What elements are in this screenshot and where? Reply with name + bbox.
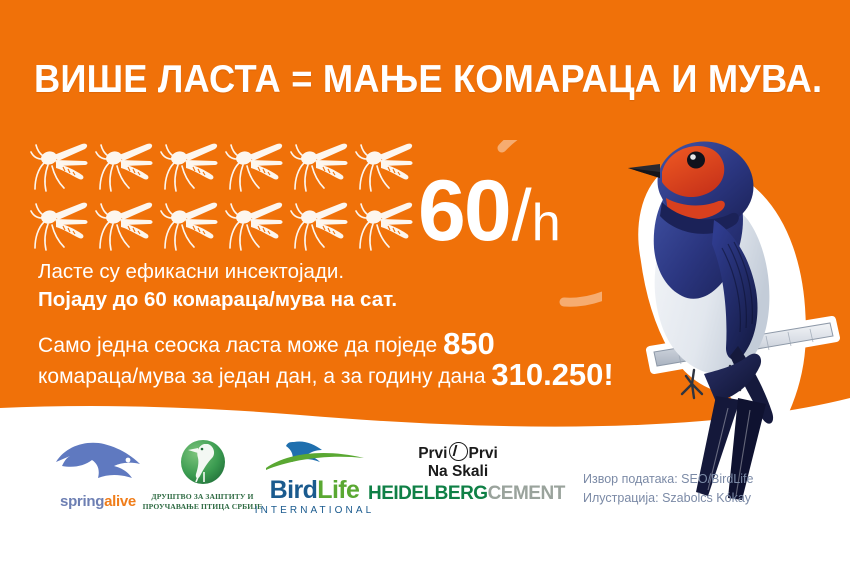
cement-word: CEMENT [488,483,565,504]
mosquito-icon [30,196,95,255]
birdlife-word-1: Bird [270,476,318,504]
credit-source: Извор података: SEO/BirdLife [583,470,753,489]
credit-illustration: Илустрација: Szabolcs Kókay [583,489,753,508]
heron-circle-icon [174,438,232,486]
logo-birdlife-international[interactable]: BirdLife INTERNATIONAL [252,438,377,516]
prvi-line-2: Na Skali [428,463,488,480]
rate-separator: / [512,176,532,256]
birdlife-word-2: Life [317,476,359,504]
mosquito-icon [225,137,290,196]
credits-block: Извор података: SEO/BirdLife Илустрација… [583,470,753,508]
prvi-emblem-icon [449,442,468,461]
heidelberg-word: HEIDELBERG [368,483,488,504]
logo-heidelberg-cement[interactable]: PrviPrvi Na Skali HEIDELBERGCEMENT [368,442,548,505]
birdlife-bird-icon [260,438,370,472]
mosquito-icon [95,137,160,196]
mosquito-icon [30,137,95,196]
mosquito-icon [95,196,160,255]
society-name-line-1: ДРУШТВО ЗА ЗАШТИТУ И [151,492,253,501]
rate-number: 60 [418,163,510,259]
spring-alive-word-1: spring [60,493,104,510]
prvi-word-b: Prvi [469,445,498,462]
mosquito-icon [160,196,225,255]
mosquito-icon [290,137,355,196]
mosquito-icon [160,137,225,196]
rate-unit: h [532,194,561,252]
mosquito-icon [290,196,355,255]
prvi-word-a: Prvi [418,445,447,462]
mosquito-icon [225,196,290,255]
society-name-line-2: ПРОУЧАВАЊЕ ПТИЦА СРБИЈЕ [143,502,263,511]
rate-badge: 60/h [418,168,561,254]
fact-line-2: Појаду до 60 комараца/мува на сат. [38,286,468,314]
infographic-poster: ВИШЕ ЛАСТА = МАЊЕ КОМАРАЦА И МУВА. [0,0,850,566]
birdlife-subtitle: INTERNATIONAL [252,505,377,516]
fact-number-daily: 850 [443,326,495,361]
mosquito-icon-grid [30,137,420,255]
fact-number-yearly: 310.250 [491,357,603,392]
fact-line-1: Ласте су ефикасни инсектојади. [38,260,344,283]
fact-block-primary: Ласте су ефикасни инсектојади. Појаду до… [38,258,468,313]
fact-text-part-1: Само једна сеоска ласта може да поједе [38,334,437,357]
fact-text-part-2: комараца/мува за један дан, а за годину … [38,365,486,388]
page-title: ВИШЕ ЛАСТА = МАЊЕ КОМАРАЦА И МУВА. [34,60,769,101]
